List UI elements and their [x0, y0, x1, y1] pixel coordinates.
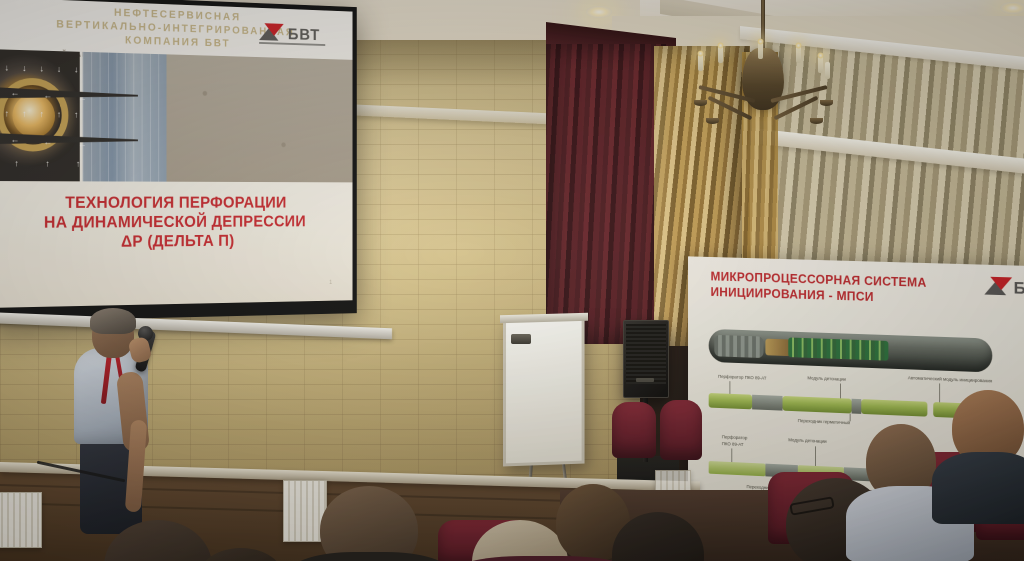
audience-head [472, 520, 568, 561]
audience-shoulders [932, 452, 1024, 524]
audience [0, 0, 1024, 561]
audience-head [198, 548, 284, 561]
audience-head [104, 520, 212, 561]
audience-shoulders [290, 552, 450, 561]
conference-photo-scene: НЕФТЕСЕРВИСНАЯ ВЕРТИКАЛЬНО-ИНТЕГРИРОВАНН… [0, 0, 1024, 561]
audience-head [320, 486, 418, 561]
